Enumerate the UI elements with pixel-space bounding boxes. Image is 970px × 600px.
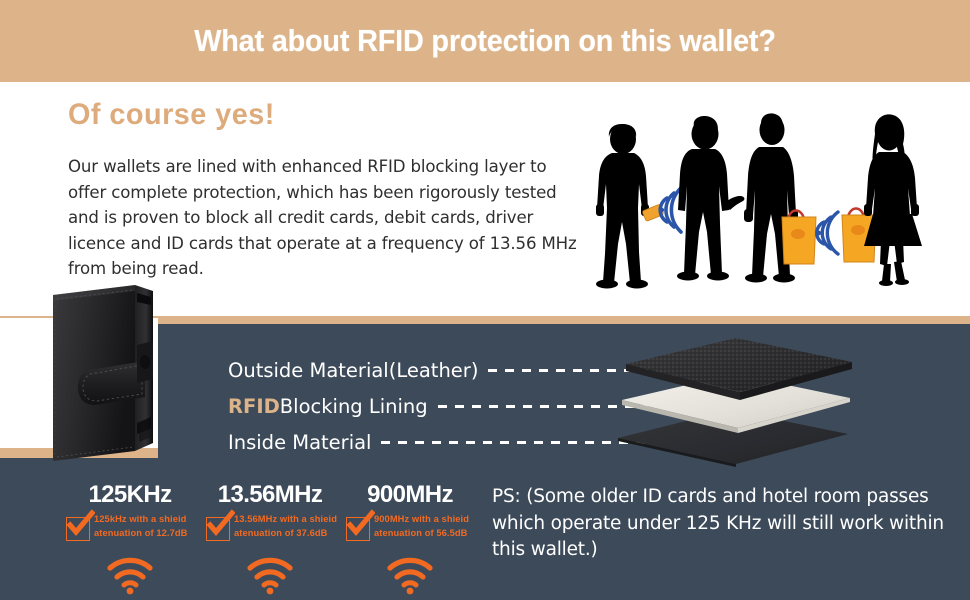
frequency-badge-125khz: 125KHz 125kHz with a shieid atenuation o… [60,482,200,592]
frequency-title-1356mhz: 13.56MHz [200,482,340,508]
frequency-title-125khz: 125KHz [60,482,200,508]
checkbox-125khz[interactable] [66,517,90,541]
layer-row-outside: Outside Material(Leather) [228,352,648,388]
layer-row-inside: Inside Material [228,424,648,460]
ps-note-text: PS: (Some older ID cards and hotel room … [492,484,948,564]
layer-label-inside: Inside Material [228,431,371,454]
page-title: What about RFID protection on this walle… [34,0,936,82]
intro-body-text: Our wallets are lined with enhanced RFID… [68,154,578,282]
layer-label-rfid: Blocking Lining [280,395,428,418]
frequency-badge-900mhz: 900MHz 900MHz with a shieid atenuation o… [340,482,480,592]
wifi-signal-icon [384,555,436,595]
wifi-signal-icon [244,555,296,595]
note-line-2: atenuation of 12.7dB [94,528,187,539]
note-line-1: 125kHz with a shieid [94,514,186,525]
material-swatch-stack [608,334,860,468]
frequency-note-text-125khz: 125kHz with a shieid atenuation of 12.7d… [94,513,187,540]
orange-shopping-bag-left [782,211,816,265]
frequency-note-900mhz: 900MHz with a shieid atenuation of 56.5d… [346,513,480,549]
ps-note: PS: (Some older ID cards and hotel room … [492,484,948,564]
layer-label-rfid-highlight: RFID [228,395,280,418]
rfid-skimming-illustration [592,104,964,294]
outer-leather-swatch [626,338,852,400]
checkbox-900mhz[interactable] [346,517,370,541]
note-line-1: 900MHz with a shieid [374,514,469,525]
header-banner: What about RFID protection on this walle… [0,0,970,82]
frequency-badges: 125KHz 125kHz with a shieid atenuation o… [60,482,480,592]
checkbox-1356mhz[interactable] [206,517,230,541]
note-line-2: atenuation of 56.5dB [374,528,467,539]
note-line-1: 13.56MHz with a shieid [234,514,337,525]
wallet-product-photo [49,283,171,468]
layer-row-rfid: RFID Blocking Lining [228,388,648,424]
intro-body-paragraph: Our wallets are lined with enhanced RFID… [68,154,578,282]
frequency-title-900mhz: 900MHz [340,482,480,508]
rfid-wallet-infographic: What about RFID protection on this walle… [0,0,970,600]
frequency-note-1356mhz: 13.56MHz with a shieid atenuation of 37.… [206,513,340,549]
frequency-note-125khz: 125kHz with a shieid atenuation of 12.7d… [66,513,200,549]
frequency-note-text-900mhz: 900MHz with a shieid atenuation of 56.5d… [374,513,469,540]
material-layers-legend: Outside Material(Leather) RFID Blocking … [228,352,648,460]
frequency-note-text-1356mhz: 13.56MHz with a shieid atenuation of 37.… [234,513,337,540]
check-icon [65,509,95,539]
layer-label-outside: Outside Material(Leather) [228,359,478,382]
check-icon [205,509,235,539]
wifi-signal-icon [104,555,156,595]
intro-subheading: Of course yes! [68,98,275,132]
frequency-badge-1356mhz: 13.56MHz 13.56MHz with a shieid atenuati… [200,482,340,592]
note-line-2: atenuation of 37.6dB [234,528,327,539]
check-icon [345,509,375,539]
